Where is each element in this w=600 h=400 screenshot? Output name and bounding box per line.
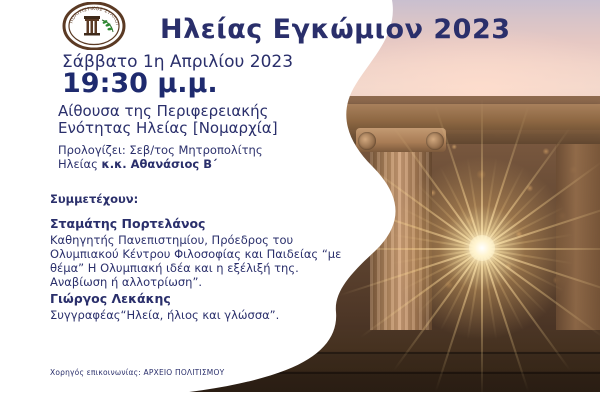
event-venue: Αίθουσα της Περιφερειακής Ενότητας Ηλεία… bbox=[58, 103, 278, 137]
prologue-line-1: Προλογίζει: Σεβ/τος Μητροπολίτης bbox=[58, 143, 263, 157]
speaker-name-1: Σταμάτης Πορτελάνος bbox=[50, 216, 205, 231]
event-time: 19:30 μ.μ. bbox=[62, 68, 218, 99]
speaker-description-2: Συγγραφέας“Ηλεία, ήλιος και γλώσσα”. bbox=[50, 308, 350, 322]
prologue-plain: Ηλείας bbox=[58, 157, 102, 171]
speaker-name-2: Γιώργος Λεκάκης bbox=[50, 291, 171, 306]
venue-line-2: Ενότητας Ηλείας [Νομαρχία] bbox=[58, 120, 278, 137]
poster-content: ΠΟΛΙΤΙΣΤΙΚΟΣ ΣΥΛΛΟΓΟΣ ΗΛΕΙΑΣ Ηλείας Εγκώ… bbox=[0, 0, 600, 400]
event-poster: ΠΟΛΙΤΙΣΤΙΚΟΣ ΣΥΛΛΟΓΟΣ ΗΛΕΙΑΣ Ηλείας Εγκώ… bbox=[0, 0, 600, 400]
participants-label: Συμμετέχουν: bbox=[50, 192, 138, 206]
prologue-line-2: Ηλείας κ.κ. Αθανάσιος Β΄ bbox=[58, 157, 263, 171]
sponsor-credit: Χορηγός επικοινωνίας: ΑΡΧΕΙΟ ΠΟΛΙΤΙΣΜΟΥ bbox=[50, 368, 224, 377]
prologue-bold: κ.κ. Αθανάσιος Β΄ bbox=[102, 157, 218, 171]
organization-logo-icon: ΠΟΛΙΤΙΣΤΙΚΟΣ ΣΥΛΛΟΓΟΣ ΗΛΕΙΑΣ bbox=[42, 2, 146, 50]
speaker-description-1: Καθηγητής Πανεπιστημίου, Πρόεδρος του Ολ… bbox=[50, 233, 350, 289]
page-title: Ηλείας Εγκώμιον 2023 bbox=[160, 14, 511, 45]
prologue-text: Προλογίζει: Σεβ/τος Μητροπολίτης Ηλείας … bbox=[58, 143, 263, 171]
venue-line-1: Αίθουσα της Περιφερειακής bbox=[58, 103, 278, 120]
